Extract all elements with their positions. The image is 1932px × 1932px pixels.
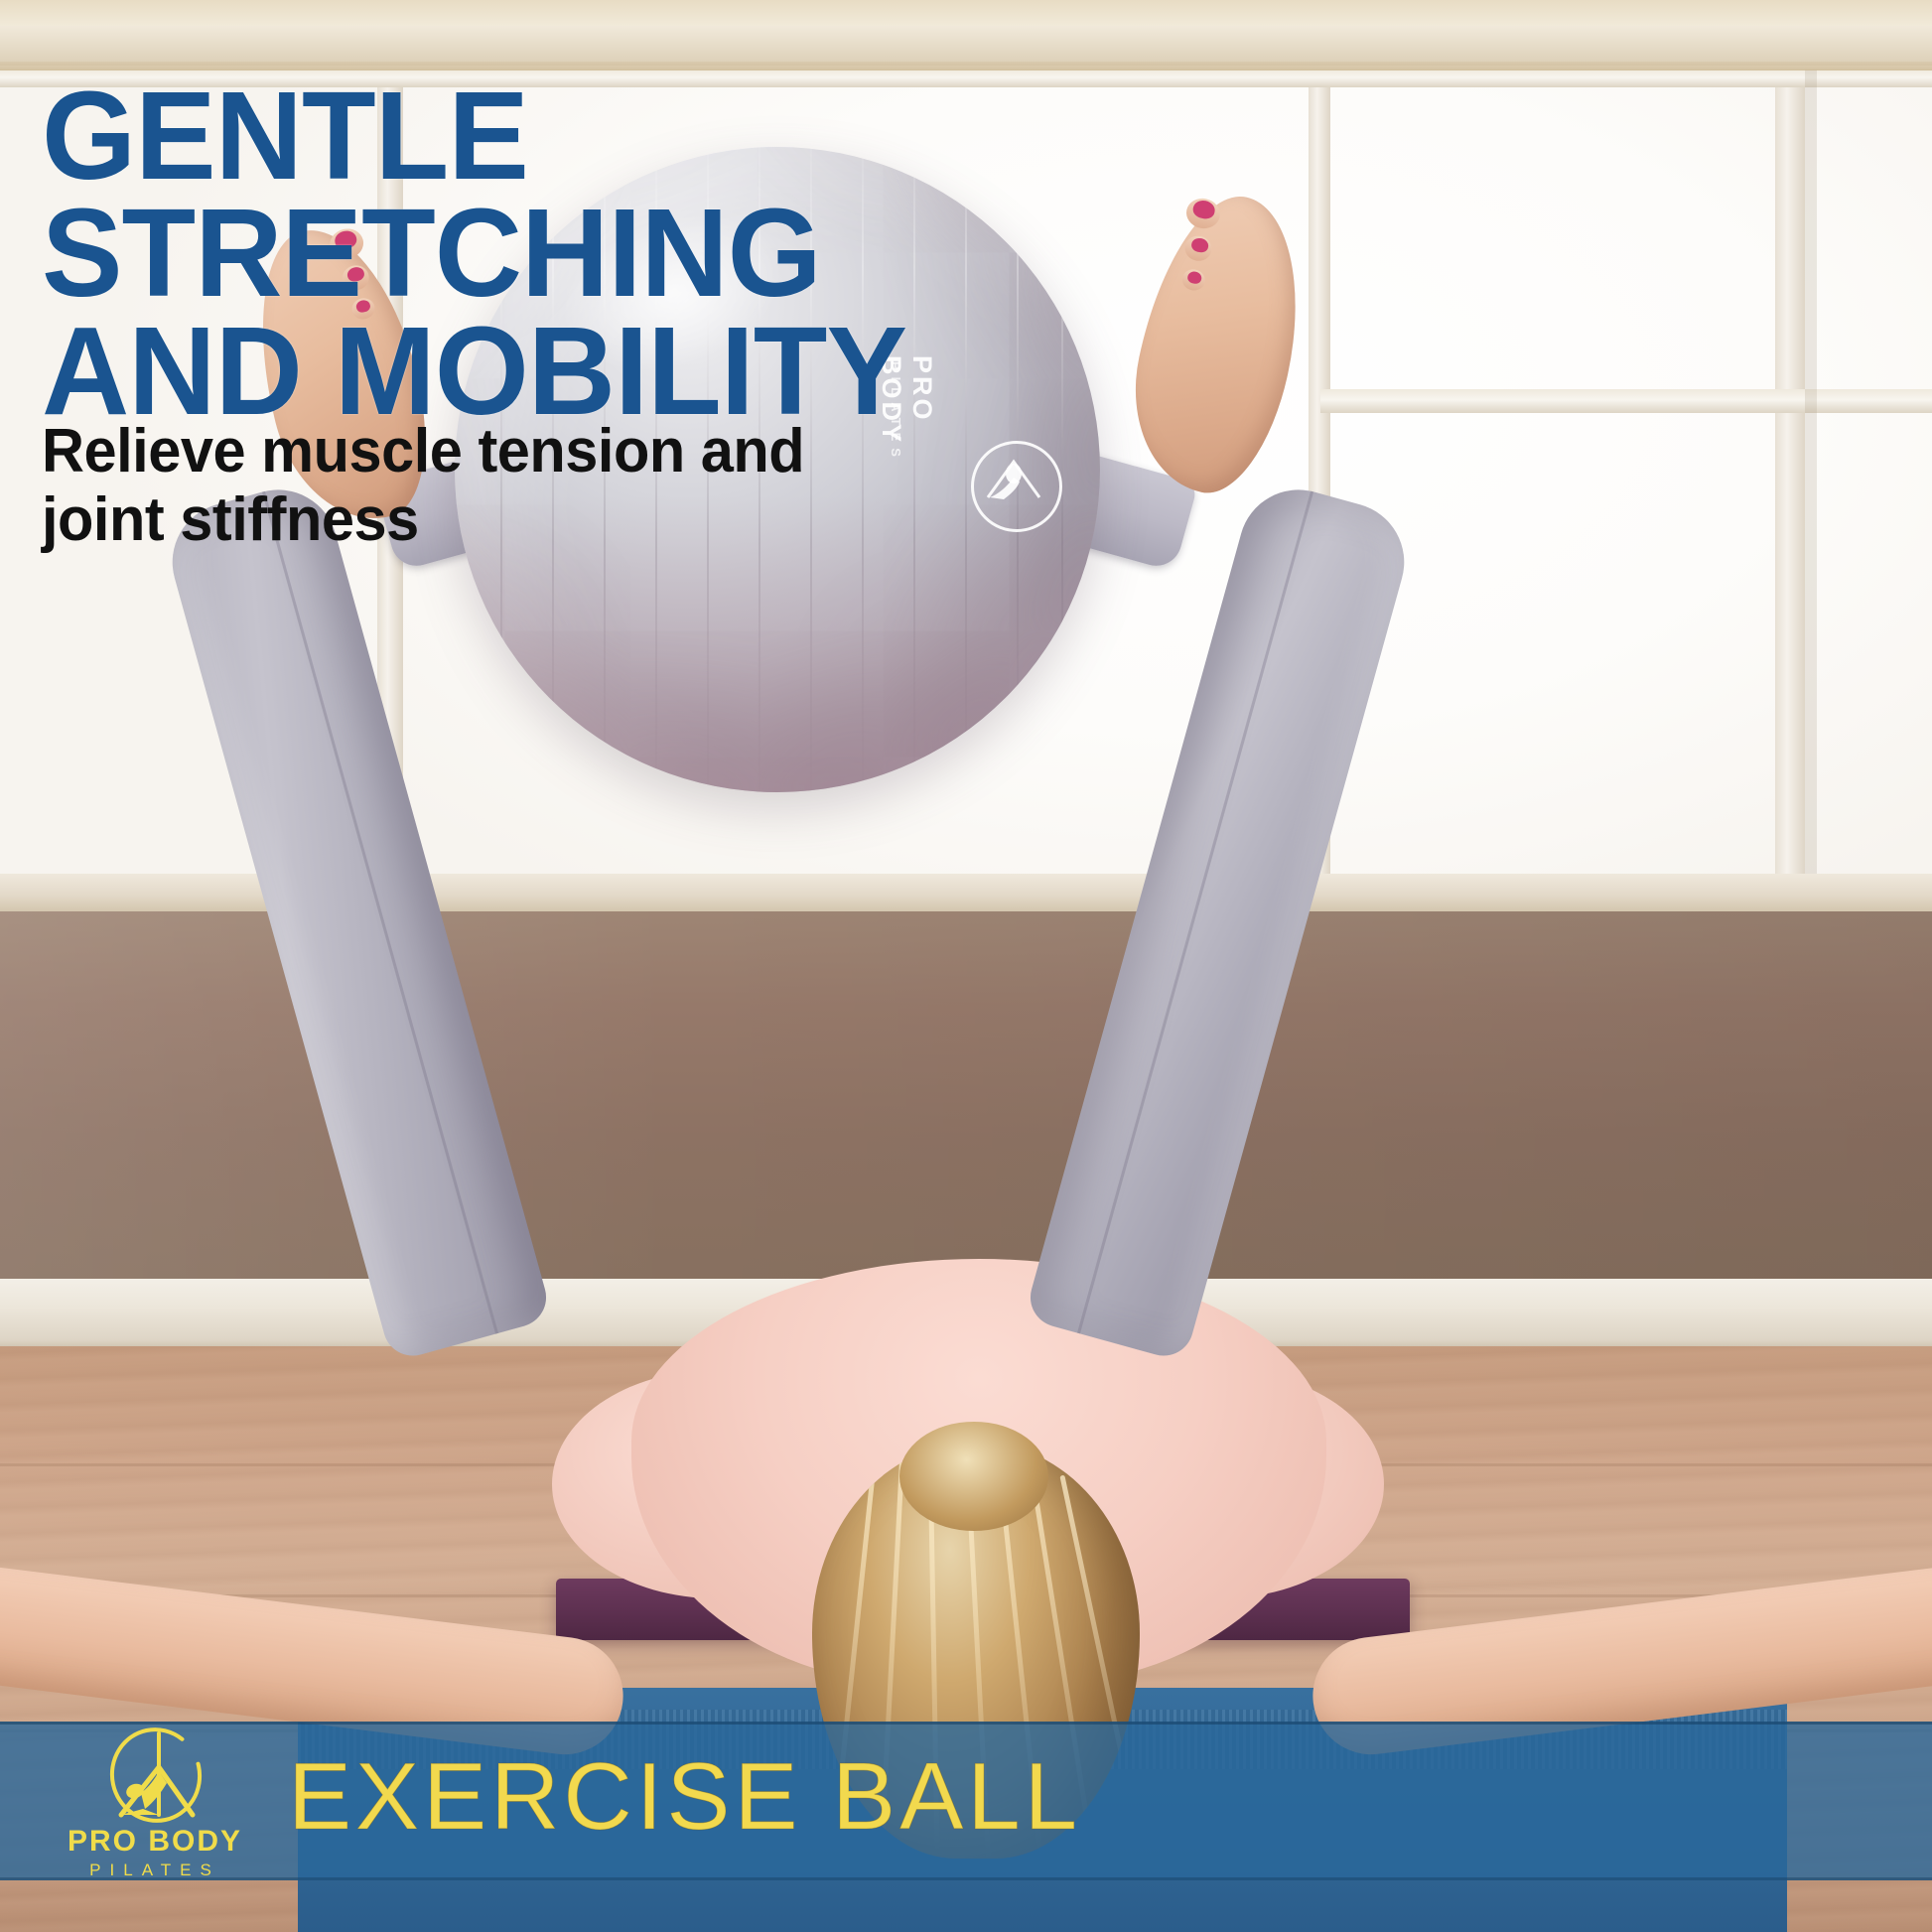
product-marketing-image: PRO BODY PILATES GENTLE STRETCHING AND M…: [0, 0, 1932, 1932]
subheadline: Relieve muscle tension and joint stiffne…: [42, 417, 899, 555]
product-name-title: EXERCISE BALL: [288, 1749, 1380, 1845]
banner-top-edge: [0, 1722, 1932, 1725]
ball-logo-circle-icon: [971, 441, 1062, 532]
hair-bun: [899, 1422, 1048, 1531]
page-title: GENTLE STRETCHING AND MOBILITY: [42, 77, 1159, 430]
brand-logo: PRO BODY PILATES: [46, 1725, 264, 1876]
brand-name-text: PRO BODY: [46, 1825, 264, 1859]
pilates-figure-icon: [97, 1727, 214, 1831]
brand-tagline-text: PILATES: [46, 1861, 264, 1880]
banner-bottom-edge: [0, 1877, 1932, 1880]
